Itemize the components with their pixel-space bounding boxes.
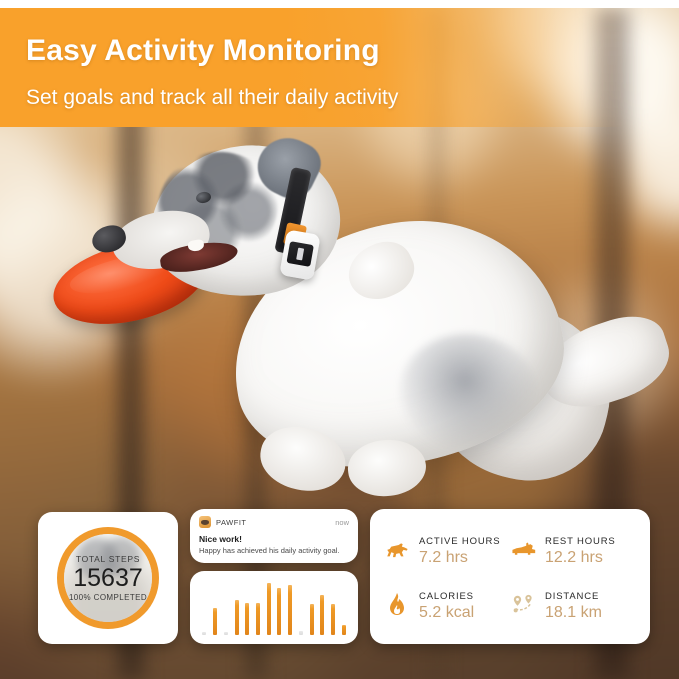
chart-bar — [224, 632, 228, 635]
bar-slot — [317, 579, 328, 635]
header-banner: Easy Activity Monitoring Set goals and t… — [0, 8, 679, 127]
chart-bar — [310, 604, 314, 635]
bar-slot — [328, 579, 339, 635]
stat-text: CALORIES 5.2 kcal — [419, 586, 474, 622]
chart-bar — [235, 600, 239, 635]
bar-slot — [231, 579, 242, 635]
bar-slot — [199, 579, 210, 635]
chart-bar — [256, 603, 260, 635]
tracker-screen — [286, 241, 313, 267]
resting-dog-icon — [510, 536, 536, 562]
bar-slot — [253, 579, 264, 635]
total-steps-label: TOTAL STEPS — [57, 554, 159, 564]
stat-value: 7.2 hrs — [419, 549, 468, 566]
pawfit-app-icon — [199, 516, 211, 528]
bar-slot — [242, 579, 253, 635]
stat-label: DISTANCE — [545, 591, 599, 602]
route-pins-icon — [510, 591, 536, 617]
stat-text: ACTIVE HOURS 7.2 hrs — [419, 531, 500, 567]
activity-bar-chart — [199, 579, 349, 635]
notification-time: now — [335, 518, 349, 527]
stat-value: 12.2 hrs — [545, 549, 603, 566]
running-dog-icon — [384, 536, 410, 562]
stat-active-hours: ACTIVE HOURS 7.2 hrs — [384, 521, 510, 577]
bar-slot — [338, 579, 349, 635]
stat-label: CALORIES — [419, 591, 474, 602]
stat-label: ACTIVE HOURS — [419, 536, 500, 547]
notification-title: Nice work! — [199, 534, 349, 544]
bar-slot — [274, 579, 285, 635]
stat-value: 5.2 kcal — [419, 604, 474, 621]
stat-value: 18.1 km — [545, 604, 602, 621]
dog-illustration — [0, 128, 679, 528]
bar-slot — [220, 579, 231, 635]
stat-text: DISTANCE 18.1 km — [545, 586, 602, 622]
chart-bar — [320, 595, 324, 635]
chart-bar — [331, 604, 335, 635]
notification-app-name: PAWFIT — [216, 518, 330, 527]
stat-distance: DISTANCE 18.1 km — [510, 577, 636, 633]
chart-bar — [299, 631, 303, 635]
stat-calories: CALORIES 5.2 kcal — [384, 577, 510, 633]
steps-progress-ring: TOTAL STEPS 15637 100% COMPLETED — [57, 527, 159, 629]
total-steps-card[interactable]: TOTAL STEPS 15637 100% COMPLETED — [38, 512, 178, 644]
chart-bar — [288, 585, 292, 635]
stat-label: REST HOURS — [545, 536, 616, 547]
notification-header: PAWFIT now — [199, 516, 349, 528]
promo-image: Easy Activity Monitoring Set goals and t… — [0, 0, 679, 679]
total-steps-completion: 100% COMPLETED — [57, 593, 159, 602]
chart-bar — [267, 583, 271, 635]
chart-bar — [213, 608, 217, 635]
total-steps-value: 15637 — [57, 565, 159, 591]
chart-bar — [277, 588, 281, 635]
page-subtitle: Set goals and track all their daily acti… — [26, 86, 398, 110]
stat-rest-hours: REST HOURS 12.2 hrs — [510, 521, 636, 577]
activity-bar-chart-card[interactable] — [190, 571, 358, 644]
notification-body: Happy has achieved his daily activity go… — [199, 546, 349, 555]
bar-slot — [306, 579, 317, 635]
bar-slot — [295, 579, 306, 635]
activity-stats-card[interactable]: ACTIVE HOURS 7.2 hrs REST HOURS 12.2 hrs — [370, 509, 650, 644]
ring-text: TOTAL STEPS 15637 100% COMPLETED — [57, 554, 159, 602]
chart-bar — [245, 603, 249, 635]
notification-card[interactable]: PAWFIT now Nice work! Happy has achieved… — [190, 509, 358, 563]
bar-slot — [263, 579, 274, 635]
flame-icon — [384, 591, 410, 617]
chart-bar — [202, 632, 206, 635]
page-title: Easy Activity Monitoring — [26, 34, 380, 68]
stat-text: REST HOURS 12.2 hrs — [545, 531, 616, 567]
chart-bar — [342, 625, 346, 635]
bar-slot — [285, 579, 296, 635]
bar-slot — [210, 579, 221, 635]
